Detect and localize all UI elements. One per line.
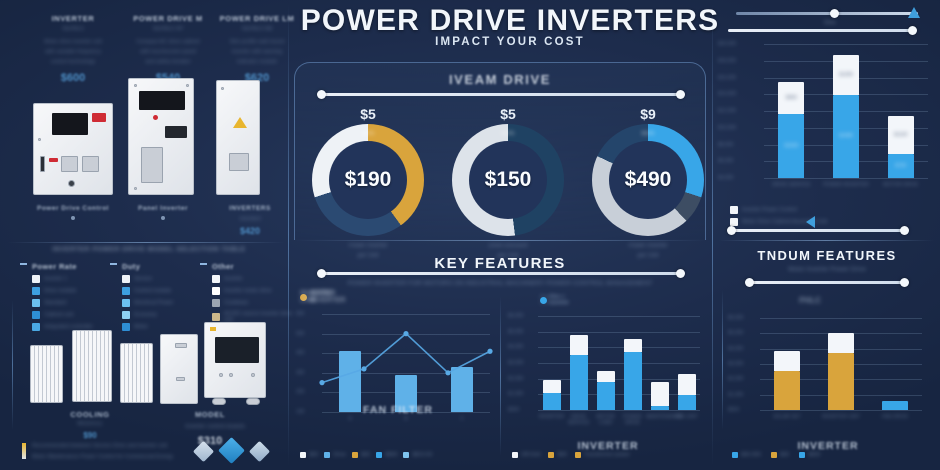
legend-stacked-entry-2[interactable]: $09	[548, 452, 566, 458]
chart-stacked-xtick-3: MOTOR LOAD	[592, 414, 619, 426]
chart-top-right-gridline-1	[764, 44, 928, 45]
chart-top-right-ytick-5: $12,000	[718, 108, 736, 114]
combo-legend-label-2: INVERTER LINE	[300, 290, 335, 304]
chart-stacked-ytick-1: $6,000	[508, 313, 523, 319]
legend-stacked-entry-1[interactable]: Off-Grid	[512, 452, 540, 458]
legend-item-1-2[interactable]: Drive module	[32, 287, 118, 295]
chart-combo-xtick-1: A	[322, 416, 378, 422]
legend-label-3-1: Inverter	[224, 276, 243, 282]
legend-label-1-4: Cabinet unit	[44, 312, 73, 318]
chart-stacked-bar-4-2	[624, 339, 642, 352]
legend-stacked-label-1: Off-Grid	[521, 452, 540, 458]
chart-stacked-bar-4-1	[624, 352, 642, 410]
legend-column-3: OtherInverterInverter motor driveCooldow…	[212, 262, 298, 327]
right-panel-slider-handle-right[interactable]	[900, 278, 909, 287]
stacked-legend-label-2: Power Inverter	[550, 294, 569, 306]
control-panel-foot-left	[212, 398, 226, 405]
legend-column-1: Power RateInverter 1Drive moduleStandard…	[32, 262, 118, 335]
legend-item-3-1[interactable]: Inverter	[212, 275, 298, 283]
chart-gold-xtick-2: INVERTER UNIT	[814, 414, 868, 420]
right-section-divider	[718, 240, 934, 241]
chart-top-right-xtick-3: MOTOR DRIVE	[873, 182, 928, 188]
legend-swatch-icon-3-4	[212, 313, 220, 321]
chart-combo-ytick-4: 300	[296, 370, 304, 376]
top-right-slider-1-arrow-icon	[908, 7, 920, 18]
chart-top-right-bar-value-3-1: $720	[888, 163, 914, 169]
control-panel-foot-right	[246, 398, 260, 405]
chart-stacked-bar-1-1	[543, 393, 561, 410]
chart-top-right-stacked: $20,000$18,000$16,000$14,000$12,000$10,0…	[718, 40, 934, 200]
center-panel-heading: IVEAM DRIVE	[300, 72, 700, 87]
key-features-slider-handle-right[interactable]	[676, 269, 685, 278]
bottom-center-divider	[500, 296, 501, 456]
legend-label-3-3: Cooldown	[224, 300, 248, 306]
chart-top-right-ytick-9: $4,000	[718, 175, 733, 181]
product-price-1: $600	[30, 72, 116, 84]
chart-combo-bar-1-1	[339, 351, 361, 412]
chart-top-right-ytick-1: $20,000	[718, 41, 736, 47]
chart-stacked-ytick-5: $2,000	[508, 376, 523, 382]
chart-stacked-gridline-3	[538, 347, 700, 348]
top-right-slider-label: Drive	[800, 20, 860, 26]
chart-stacked-gridline-6	[538, 394, 700, 395]
top-right-slider-2-handle[interactable]	[908, 26, 917, 35]
chart-gold-bar-1-2	[774, 351, 800, 371]
legend-item-2-4[interactable]: Economy	[122, 311, 208, 319]
legend-label-2-4: Economy	[134, 312, 157, 318]
chart-combo-ytick-1: 600	[296, 311, 304, 317]
chart-gold-ytick-6: $1,000	[728, 392, 743, 398]
product-image-inverter-2	[128, 78, 194, 195]
bottom-left-inner-divider	[12, 300, 13, 430]
product-sub-1: SERIES	[30, 26, 116, 32]
top-right-legend-swatch-icon-1	[730, 206, 738, 214]
legend-combo-label-1: $90	[309, 452, 318, 458]
chart-stacked-ytick-3: $4,000	[508, 344, 523, 350]
legend-label-3-2: Inverter motor drive	[224, 288, 272, 294]
left-group1-sub: MODULE	[30, 421, 150, 427]
legend-item-1-3[interactable]: Standard	[32, 299, 118, 307]
donut-center-value-3: $490	[592, 124, 704, 236]
legend-stacked-label-2: $09	[557, 452, 566, 458]
key-features-slider-track[interactable]	[320, 272, 682, 275]
chart-top-right-ytick-7: $8,000	[718, 142, 733, 148]
legend-label-1-3: Standard	[44, 300, 66, 306]
product-image-inverter-1	[33, 103, 113, 195]
stacked-chart-title: INVERTER	[510, 440, 706, 452]
legend-column-2: DutyServiceControl moduleElectrical Powe…	[122, 262, 208, 335]
chart-gold-ytick-1: $6,000	[728, 315, 743, 321]
product-sub-2: SERIES 4P	[125, 26, 211, 32]
center-panel-slider-track[interactable]	[320, 93, 682, 96]
legend-swatch-icon-3-3	[212, 299, 220, 307]
legend-item-3-3[interactable]: Cooldown	[212, 299, 298, 307]
chart-combo-ytick-3: 400	[296, 350, 304, 356]
legend-item-2-3[interactable]: Electrical Power	[122, 299, 208, 307]
chart-gold-bar-2-1	[828, 353, 854, 410]
legend-label-1-1: Inverter 1	[44, 276, 67, 282]
chart-stacked-bar-5-1	[651, 406, 669, 410]
product-footer-dot-1	[71, 216, 75, 220]
legend-swatch-icon-3-1	[212, 275, 220, 283]
chart-stacked-gridline-4	[538, 363, 700, 364]
chart-combo-ytick-2: 500	[296, 331, 304, 337]
center-right-divider	[712, 4, 713, 466]
legend-label-2-1: Service	[134, 276, 152, 282]
warning-triangle-icon	[233, 117, 247, 128]
legend-gold-entry-1[interactable]: $06.900	[732, 452, 761, 458]
key-features-subtitle: POWER INVERTER FOR MOTORS ON INDUSTRIAL …	[300, 280, 700, 287]
legend-combo-swatch-icon-5	[403, 452, 409, 458]
page-subtitle: IMPACT YOUR COST	[300, 36, 720, 48]
top-right-legend-item-1[interactable]: Inverter Power Control	[730, 206, 930, 214]
legend-combo-label-3: $65	[361, 452, 370, 458]
legend-gold-label-2: $00	[780, 452, 789, 458]
chart-combo-xtick-3: C	[434, 416, 490, 422]
chart-stacked-xtick-5: MAINTENANCE	[646, 414, 673, 420]
chart-gold-gridline-1	[760, 318, 922, 319]
chart-stacked-bar-2-2	[570, 335, 588, 356]
chart-top-right-bar-value-2-1: $2480	[833, 133, 859, 139]
chart-stacked-bar-1-2	[543, 380, 561, 393]
legend-combo-entry-5[interactable]: $810.50	[403, 452, 432, 458]
heatsink-image-3	[120, 343, 153, 403]
chart-top-right-ytick-8: $6,000	[718, 158, 733, 164]
center-left-divider	[288, 4, 289, 466]
bottom-left-marker-icon	[22, 443, 26, 459]
chart-gold-bar-2-2	[828, 333, 854, 353]
chart-stacked-bar-3-2	[597, 371, 615, 382]
chart-gold-xtick-1: SOLAR SET	[760, 414, 814, 420]
bottom-right-slider-track[interactable]	[730, 229, 906, 232]
left-section-divider	[8, 242, 284, 243]
bottom-right-slider-handle-left[interactable]	[727, 226, 736, 235]
chart-gold-gridline-7	[760, 410, 922, 411]
donut-center-value-1: $190	[312, 124, 424, 236]
chart-stacked-gridline-2	[538, 332, 700, 333]
key-features-slider-handle-left[interactable]	[317, 269, 326, 278]
control-panel-image	[204, 322, 266, 398]
chart-stacked-bar-5-2	[651, 382, 669, 406]
donut-cap-label-1: 54%	[362, 131, 375, 137]
chart-gold-ytick-7: $500	[728, 407, 739, 413]
chart-top-right-xtick-2: POWER INVERTER	[819, 182, 874, 188]
product-heading-2: POWER DRIVE M	[125, 14, 211, 23]
product-description-1: Motor drive inverter unitwith variable f…	[30, 38, 116, 68]
left-group2-sub: Inverter control boards	[150, 424, 280, 430]
right-panel-slider-handle-left[interactable]	[745, 278, 754, 287]
legend-combo-entry-2[interactable]: Drive	[324, 452, 346, 458]
chart-stacked-xtick-4: POWER DRIVE	[619, 414, 646, 426]
chart-top-right-ytick-3: $16,000	[718, 75, 736, 81]
chart-gold-ytick-3: $4,000	[728, 346, 743, 352]
legend-stacked-swatch-icon-2	[548, 452, 554, 458]
legend-swatch-icon-1-1	[32, 275, 40, 283]
product-image-inverter-3	[216, 80, 260, 195]
donut-chart-1: 54%$190	[312, 124, 424, 236]
legend-gold-entry-3[interactable]: $800	[799, 452, 820, 458]
chart-stacked-gridline-1	[538, 316, 700, 317]
page-title: POWER DRIVE INVERTERS	[300, 4, 720, 38]
chart-top-right-bar-value-2-2: $1200	[833, 72, 859, 78]
legend-column-title-3: Other	[212, 262, 298, 271]
chart-combo-ytick-5: 200	[296, 389, 304, 395]
chart-stacked-xtick-1: INVERTER	[538, 414, 565, 420]
chart-stacked-xtick-2: DRIVE SERVICE	[565, 414, 592, 426]
top-right-slider-1-track[interactable]	[736, 12, 918, 15]
legend-swatch-icon-2-1	[122, 275, 130, 283]
left-group1-price: $90	[30, 431, 150, 440]
legend-swatch-icon-2-4	[122, 311, 130, 319]
legend-combo-entry-3[interactable]: $65	[352, 452, 370, 458]
donut-top-label-2: $5	[452, 106, 564, 122]
gold-chart-title: INVERTER	[730, 440, 926, 452]
top-right-slider-2-track[interactable]	[728, 29, 914, 32]
chart-top-right-bar-value-1-1: $1920	[778, 143, 804, 149]
gold-chart-caption: PHLC	[730, 296, 890, 305]
gold-chart-legend: $06.900$00$800	[732, 452, 932, 458]
center-panel-slider-handle-right[interactable]	[676, 90, 685, 99]
legend-item-2-2[interactable]: Control module	[122, 287, 208, 295]
chart-stacked-xtick-6: FAN UNIT	[673, 414, 700, 420]
legend-stacked-swatch-icon-1	[512, 452, 518, 458]
product-footer-dot-2	[161, 216, 165, 220]
infographic-page: POWER DRIVE INVERTERS IMPACT YOUR COST I…	[0, 0, 940, 470]
legend-label-2-3: Electrical Power	[134, 300, 173, 306]
legend-gold-label-3: $800	[808, 452, 820, 458]
product-heading-1: INVERTER	[30, 14, 116, 23]
legend-swatch-icon-1-3	[32, 299, 40, 307]
legend-dash-icon-1	[20, 263, 27, 265]
legend-item-1-4[interactable]: Cabinet unit	[32, 311, 118, 319]
left-legend-heading: INVERTER POWER DRIVE MODEL SELECTION TAB…	[14, 246, 284, 253]
product-card-1[interactable]: INVERTERSERIESMotor drive inverter unitw…	[30, 14, 116, 84]
right-panel-heading: TNDUM FEATURES	[722, 248, 932, 263]
chart-top-right-gridline-9	[764, 178, 928, 179]
chart-stacked-gridline-5	[538, 379, 700, 380]
chart-gold-bar-1-1	[774, 371, 800, 410]
legend-stacked-entry-3[interactable]: Transformer power	[575, 452, 630, 458]
chart-top-right-bar-value-3-2: $1120	[888, 132, 914, 138]
chart-stacked-ytick-7: $500	[508, 407, 519, 413]
chart-gold-xtick-3: FAN DRIVE	[868, 414, 922, 420]
chart-top-right-ytick-6: $10,000	[718, 125, 736, 131]
donut-top-label-1: $5	[312, 106, 424, 122]
top-right-legend-label-1: Inverter Power Control	[742, 207, 797, 213]
legend-swatch-icon-2-3	[122, 299, 130, 307]
key-features-heading: KEY FEATURES	[300, 255, 700, 272]
left-group1-label: COOLING	[30, 410, 150, 419]
chart-top-right-xtick-1: DRIVE SERVICE	[764, 182, 819, 188]
stacked-legend-blue-icon	[540, 297, 547, 304]
legend-item-1-1[interactable]: Inverter 1	[32, 275, 118, 283]
stacked-chart-legend: Off-Grid$09Transformer power	[512, 452, 712, 458]
donut-chart-2: 60%$150	[452, 124, 564, 236]
heatsink-image-2	[72, 330, 112, 402]
chart-gold-bar-3-3	[882, 401, 908, 410]
legend-swatch-icon-1-4	[32, 311, 40, 319]
legend-swatch-icon-1-2	[32, 287, 40, 295]
legend-stacked-label-3: Transformer power	[584, 452, 630, 458]
top-right-legend-swatch-icon-2	[730, 218, 738, 226]
legend-combo-swatch-icon-1	[300, 452, 306, 458]
legend-gold-label-1: $06.900	[741, 452, 761, 458]
chart-stacked-bar-2-1	[570, 355, 588, 410]
legend-item-2-5[interactable]: Motor	[122, 323, 208, 331]
legend-column-title-1: Power Rate	[32, 262, 118, 271]
chart-bottom-right-stacked: $6,000$5,000$4,000$3,000$2,000$1,000$500…	[508, 296, 706, 426]
legend-gold-swatch-icon-3	[799, 452, 805, 458]
product-description-2: Compact AC drive cabinetwith touchscreen…	[125, 38, 211, 68]
chart-gold-ytick-4: $3,000	[728, 361, 743, 367]
combo-chart-title: FAN FILTER	[300, 404, 496, 416]
legend-swatch-icon-2-2	[122, 287, 130, 295]
legend-combo-label-2: Drive	[333, 452, 346, 458]
legend-label-2-2: Control module	[134, 288, 171, 294]
legend-combo-swatch-icon-3	[352, 452, 358, 458]
chart-combo-xtick-2: B	[378, 416, 434, 422]
chart-top-right-bar-value-1-2: $960	[778, 95, 804, 101]
donut-cap-label-2: 60%	[502, 131, 515, 137]
chart-bottom-right-gold: $6,000$5,000$4,000$3,000$2,000$1,000$500…	[728, 296, 928, 426]
chart-stacked-bar-3-1	[597, 382, 615, 410]
chart-stacked-ytick-4: $3,000	[508, 360, 523, 366]
right-panel-slider-track[interactable]	[748, 281, 906, 284]
bottom-right-slider-handle-right[interactable]	[900, 226, 909, 235]
legend-swatch-icon-1-5	[32, 323, 40, 331]
chart-combo-gridline-2	[322, 334, 490, 335]
legend-stacked-swatch-icon-3	[575, 452, 581, 458]
legend-item-3-2[interactable]: Inverter motor drive	[212, 287, 298, 295]
legend-gold-swatch-icon-1	[732, 452, 738, 458]
legend-combo-label-4: $869	[385, 452, 397, 458]
legend-swatch-icon-2-5	[122, 323, 130, 331]
donut-chart-3: 65%$490	[592, 124, 704, 236]
product-card-2[interactable]: POWER DRIVE MSERIES 4PCompact AC drive c…	[125, 14, 211, 84]
chart-top-right-ytick-2: $18,000	[718, 58, 736, 64]
chart-gold-ytick-2: $5,000	[728, 330, 743, 336]
legend-dash-icon-3	[200, 263, 207, 265]
top-right-chart-legend: Inverter Power ControlMotor Drive Cabine…	[730, 206, 930, 230]
left-group2-label: MODEL	[150, 410, 270, 419]
center-panel-slider-handle-left[interactable]	[317, 90, 326, 99]
donut-top-label-3: $9	[592, 106, 704, 122]
chart-stacked-ytick-6: $1,000	[508, 391, 523, 397]
right-panel-left-rule	[722, 290, 723, 430]
combo-chart-legend: $90Drive$65$869$810.50	[300, 452, 500, 458]
legend-combo-entry-1[interactable]: $90	[300, 452, 318, 458]
legend-combo-swatch-icon-4	[376, 452, 382, 458]
bottom-right-play-icon	[806, 216, 815, 228]
legend-gold-swatch-icon-2	[771, 452, 777, 458]
center-section-divider	[296, 240, 706, 241]
top-right-slider-1-handle[interactable]	[830, 9, 839, 18]
inverter-unit-image	[160, 334, 198, 404]
legend-swatch-icon-3-2	[212, 287, 220, 295]
legend-gold-entry-2[interactable]: $00	[771, 452, 789, 458]
chart-stacked-gridline-7	[538, 410, 700, 411]
legend-dash-icon-2	[110, 263, 117, 265]
legend-column-title-2: Duty	[122, 262, 208, 271]
chart-combo-gridline-1	[322, 314, 490, 315]
chart-top-right-ytick-4: $14,000	[718, 91, 736, 97]
legend-combo-entry-4[interactable]: $869	[376, 452, 397, 458]
chart-gold-ytick-5: $2,000	[728, 376, 743, 382]
legend-combo-swatch-icon-2	[324, 452, 330, 458]
top-right-legend-item-2[interactable]: Motor Drive Cabinet Assembly Unit	[730, 218, 930, 226]
chart-stacked-bar-6-1	[678, 395, 696, 410]
legend-label-2-5: Motor	[134, 324, 148, 330]
legend-combo-label-5: $810.50	[412, 452, 432, 458]
legend-label-1-2: Drive module	[44, 288, 76, 294]
donut-cap-label-3: 65%	[642, 131, 655, 137]
right-panel-subtitle: Motor Inverter Power Drive	[722, 266, 932, 273]
donut-center-value-2: $150	[452, 124, 564, 236]
legend-item-2-1[interactable]: Service	[122, 275, 208, 283]
chart-stacked-ytick-2: $5,000	[508, 329, 523, 335]
heatsink-image-1	[30, 345, 63, 403]
chart-stacked-bar-6-2	[678, 374, 696, 395]
